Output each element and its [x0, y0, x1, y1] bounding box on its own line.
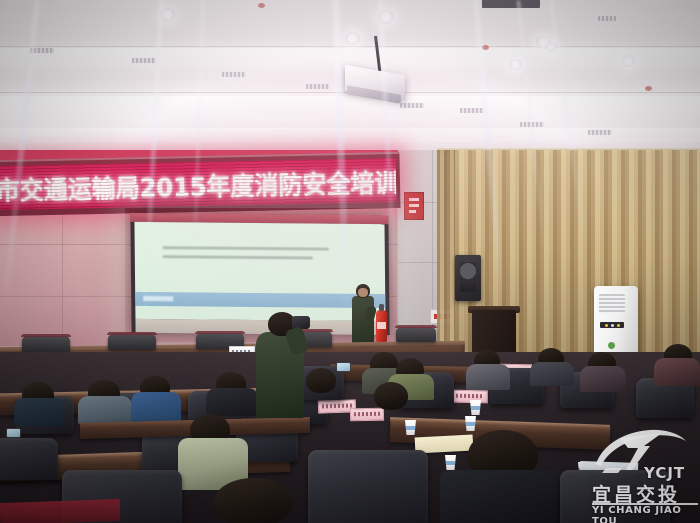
slide-text-line — [163, 246, 329, 250]
sprinkler-head — [258, 3, 265, 8]
sprinkler-head — [645, 86, 652, 91]
ceiling-vent — [306, 84, 330, 89]
paper-cup — [470, 400, 481, 415]
audience-seat — [0, 438, 58, 480]
projection-screen — [130, 213, 389, 335]
slide-band-label — [143, 296, 173, 301]
ceiling-vent — [598, 16, 616, 21]
ceiling-downlight — [545, 42, 557, 52]
attendee-head — [214, 478, 292, 523]
attendee-phone[interactable] — [336, 362, 351, 372]
attendee-phone[interactable] — [6, 428, 21, 438]
paper-cup — [445, 455, 456, 470]
attendee-body — [78, 396, 132, 424]
attendee-body — [580, 366, 626, 392]
presenter-speaker — [352, 284, 374, 346]
led-banner-screen: 宜昌市交通运输局2015年度消防安全培训会议 — [0, 158, 396, 210]
slide-footer-bar — [135, 319, 385, 335]
conference-photo: 宜昌市交通运输局2015年度消防安全培训会议 — [0, 0, 700, 523]
stage-chair — [396, 327, 436, 342]
ceiling-vent — [222, 72, 246, 77]
attendee-body — [654, 358, 700, 386]
ceiling-vent — [132, 58, 156, 63]
paper-cup — [465, 416, 476, 431]
ceiling-vent — [400, 103, 424, 108]
ceiling-downlight — [160, 8, 175, 21]
attendee-head — [306, 368, 336, 393]
table-name-card — [452, 390, 488, 404]
ceiling-vent — [588, 130, 612, 135]
table-name-card — [350, 408, 384, 422]
ac-control-panel[interactable] — [600, 322, 624, 328]
ceiling-downlight — [345, 32, 360, 45]
ceiling-downlight — [378, 10, 394, 24]
fire-notice-sign — [404, 192, 424, 220]
attendee-head — [374, 382, 408, 410]
wall-speaker — [455, 255, 481, 301]
audience-seat — [308, 450, 428, 523]
ceiling-vent — [30, 48, 54, 53]
ceiling-vent — [460, 108, 484, 113]
ceiling-downlight — [622, 55, 635, 67]
stage-chair — [22, 336, 70, 352]
stage-chair — [108, 334, 156, 350]
attendee-body — [206, 388, 258, 416]
slide-text-line — [163, 255, 313, 259]
audience-seat — [560, 470, 670, 523]
ceiling-vent — [520, 122, 544, 127]
slide-accent-band — [135, 292, 385, 308]
attendee-body — [131, 392, 181, 422]
floor-carpet — [0, 499, 120, 523]
fire-extinguisher — [376, 310, 387, 342]
ceiling-downlight — [509, 59, 522, 70]
ac-vent-grill — [599, 294, 625, 314]
ceiling-vent-grill — [482, 0, 540, 8]
led-banner: 宜昌市交通运输局2015年度消防安全培训会议 — [0, 152, 401, 216]
attendee-body — [530, 362, 574, 386]
led-banner-text: 宜昌市交通运输局2015年度消防安全培训会议 — [0, 160, 396, 207]
sprinkler-head — [482, 45, 489, 50]
attendee-body — [466, 364, 510, 390]
attendee-body — [14, 398, 64, 426]
ac-brand-badge — [608, 342, 615, 349]
paper-cup — [405, 420, 416, 435]
presentation-slide — [134, 222, 385, 321]
attendee-body — [440, 470, 560, 523]
